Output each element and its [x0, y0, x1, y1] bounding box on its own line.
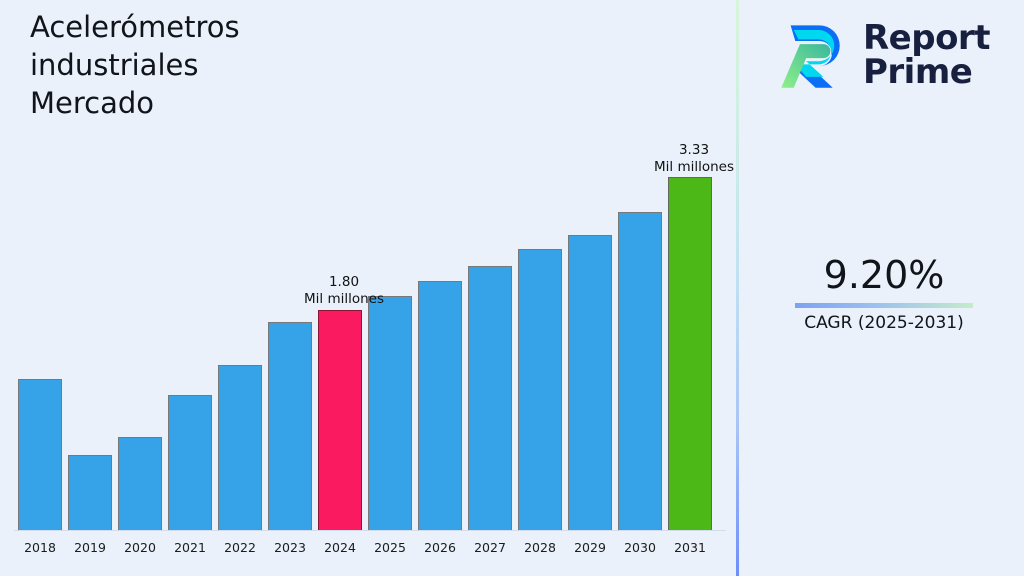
- bar-2018: [18, 379, 62, 530]
- x-tick-2023: 2023: [262, 540, 318, 555]
- brand-logo: Report Prime: [775, 12, 1015, 98]
- x-tick-2030: 2030: [612, 540, 668, 555]
- bar-2031: [668, 177, 712, 530]
- bar-2019: [68, 455, 112, 530]
- x-tick-2019: 2019: [62, 540, 118, 555]
- bar-2029: [568, 235, 612, 530]
- x-tick-2026: 2026: [412, 540, 468, 555]
- bar-2028: [518, 249, 562, 530]
- x-tick-2022: 2022: [212, 540, 268, 555]
- cagr-value: 9.20%: [759, 252, 1009, 298]
- x-tick-2024: 2024: [312, 540, 368, 555]
- bar-2027: [468, 266, 512, 530]
- bar-chart-plot-area: 2018201920202021202220232024202520262027…: [0, 0, 736, 576]
- chart-page: Acelerómetros industriales Mercado 20182…: [0, 0, 1024, 576]
- x-tick-2021: 2021: [162, 540, 218, 555]
- x-axis-line: [14, 530, 726, 531]
- value-label-number: 1.80: [264, 274, 424, 291]
- right-panel: Report Prime 9.20% CAGR (2025-2031): [739, 0, 1024, 576]
- bar-2024: [318, 310, 362, 530]
- x-tick-2031: 2031: [662, 540, 718, 555]
- x-tick-2029: 2029: [562, 540, 618, 555]
- bar-2023: [268, 322, 312, 530]
- bar-2026: [418, 281, 462, 530]
- x-tick-2018: 2018: [12, 540, 68, 555]
- x-tick-2028: 2028: [512, 540, 568, 555]
- cagr-block: 9.20% CAGR (2025-2031): [759, 252, 1009, 334]
- bar-2030: [618, 212, 662, 530]
- bar-2020: [118, 437, 162, 530]
- bar-2021: [168, 395, 212, 530]
- report-prime-logo-icon: [775, 16, 853, 94]
- brand-wordmark: Report Prime: [863, 21, 990, 89]
- x-tick-2020: 2020: [112, 540, 168, 555]
- chart-panel: Acelerómetros industriales Mercado 20182…: [0, 0, 736, 576]
- x-tick-2025: 2025: [362, 540, 418, 555]
- bar-2022: [218, 365, 262, 530]
- cagr-caption: CAGR (2025-2031): [759, 312, 1009, 334]
- x-tick-2027: 2027: [462, 540, 518, 555]
- cagr-divider: [795, 303, 973, 308]
- bar-2025: [368, 296, 412, 530]
